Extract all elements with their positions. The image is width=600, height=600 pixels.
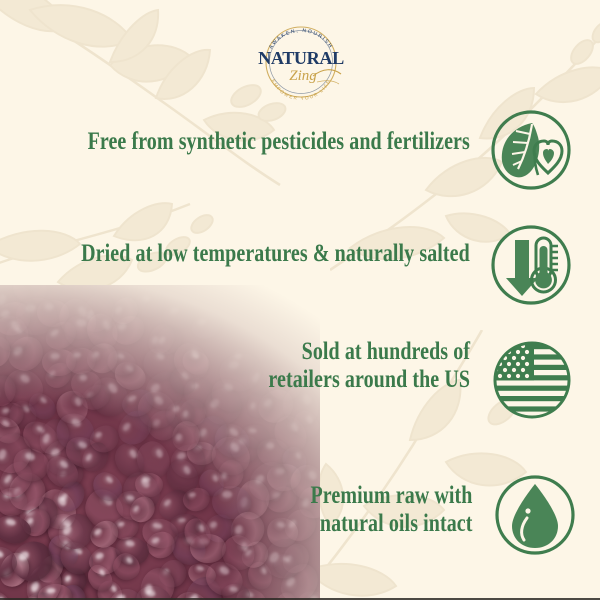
logo-arc-top: AWAKEN, NOURISH (268, 28, 334, 50)
oil-droplet-icon (492, 472, 578, 558)
claim-line: natural oils intact (310, 510, 472, 538)
olives-fade-mask (0, 285, 320, 600)
svg-text:AWAKEN, NOURISH: AWAKEN, NOURISH (268, 28, 334, 50)
claim-text-3: Sold at hundreds of retailers around the… (268, 338, 470, 394)
claim-line: Dried at low temperatures & naturally sa… (81, 240, 470, 268)
low-temperature-icon (488, 222, 574, 308)
claim-row-2: Dried at low temperatures & naturally sa… (0, 240, 470, 268)
claim-line: Premium raw with (310, 482, 472, 510)
claim-text-4: Premium raw with natural oils intact (310, 482, 472, 538)
claim-row-4: Premium raw with natural oils intact (0, 482, 472, 538)
brand-logo: AWAKEN, NOURISH EMPOWER YOUR LIFE NATURA… (255, 18, 347, 106)
claim-row-1: Free from synthetic pesticides and ferti… (0, 128, 470, 156)
claim-line: retailers around the US (268, 366, 470, 394)
infographic-canvas: AWAKEN, NOURISH EMPOWER YOUR LIFE NATURA… (0, 0, 600, 600)
logo-wordmark: NATURAL (258, 48, 344, 68)
claim-line: Free from synthetic pesticides and ferti… (88, 128, 470, 156)
olives-photo (0, 285, 320, 600)
us-flag-icon (489, 337, 575, 423)
claim-text-2: Dried at low temperatures & naturally sa… (81, 240, 470, 268)
claim-line: Sold at hundreds of (268, 338, 470, 366)
leaf-heart-icon (488, 107, 574, 193)
claim-text-1: Free from synthetic pesticides and ferti… (88, 128, 470, 156)
claim-row-3: Sold at hundreds of retailers around the… (0, 338, 470, 394)
